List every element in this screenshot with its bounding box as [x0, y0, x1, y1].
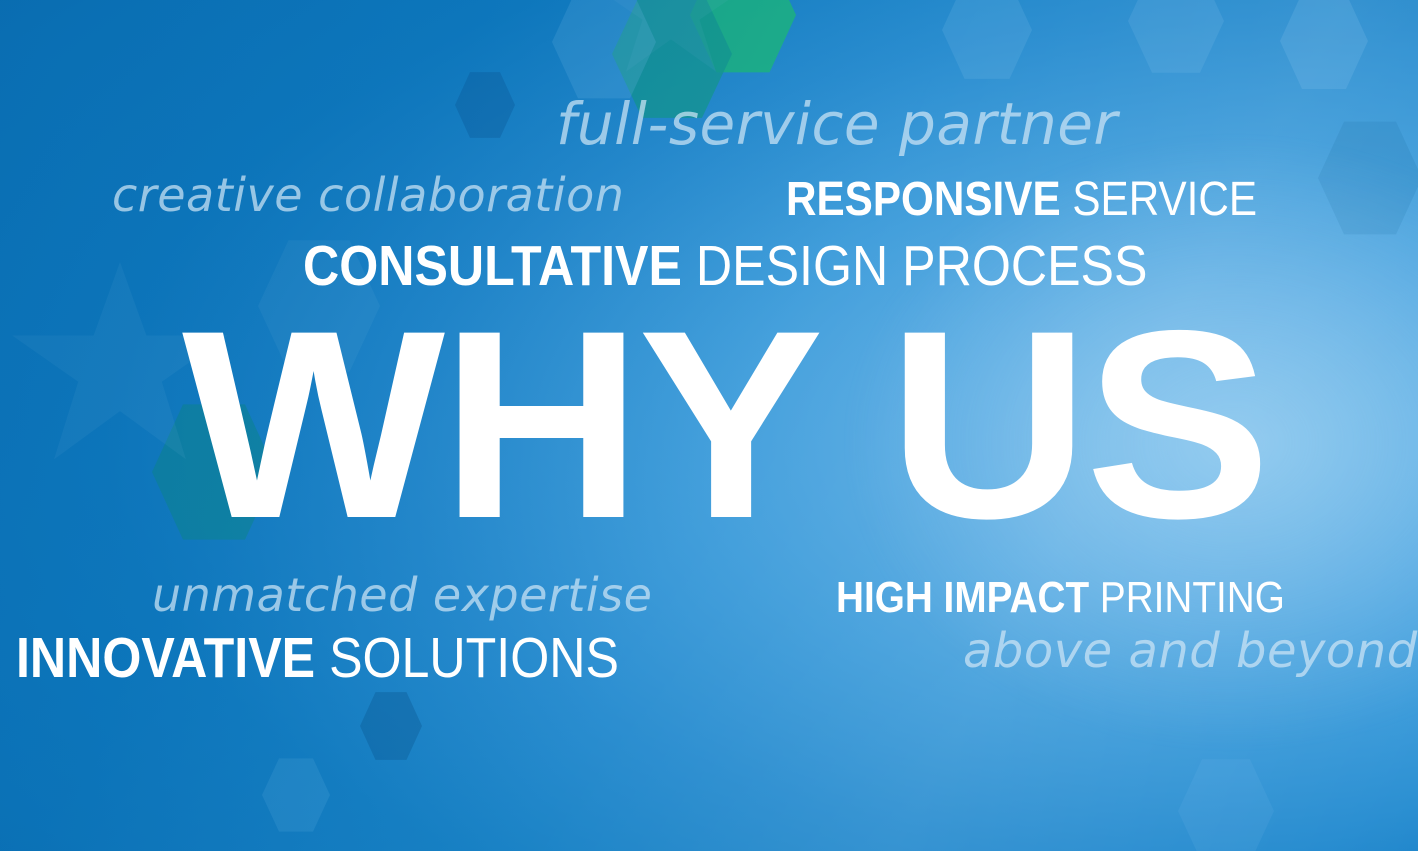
tagline-bold-innovative: INNOVATIVE — [16, 626, 315, 690]
script-phrase-creative-collaboration: creative collaboration — [112, 172, 624, 218]
tagline-high-impact-printing: HIGH IMPACT PRINTING — [836, 576, 1285, 620]
tagline-regular-service: SERVICE — [1061, 173, 1257, 226]
script-phrase-unmatched-expertise: unmatched expertise — [152, 572, 652, 618]
tagline-bold-responsive: RESPONSIVE — [786, 173, 1061, 226]
script-phrase-above-and-beyond: above and beyond — [963, 627, 1418, 675]
tagline-bold-high-impact: HIGH IMPACT — [836, 573, 1089, 622]
tagline-responsive-service: RESPONSIVE SERVICE — [786, 176, 1257, 224]
tagline-regular-printing: PRINTING — [1089, 573, 1285, 622]
tagline-innovative-solutions: INNOVATIVE SOLUTIONS — [16, 630, 619, 687]
script-phrase-full-service-partner: full-service partner — [556, 95, 1118, 153]
why-us-hero-banner: full-service partner creative collaborat… — [0, 0, 1418, 851]
page-title: WHY US — [182, 290, 1267, 558]
tagline-regular-solutions: SOLUTIONS — [315, 626, 619, 690]
